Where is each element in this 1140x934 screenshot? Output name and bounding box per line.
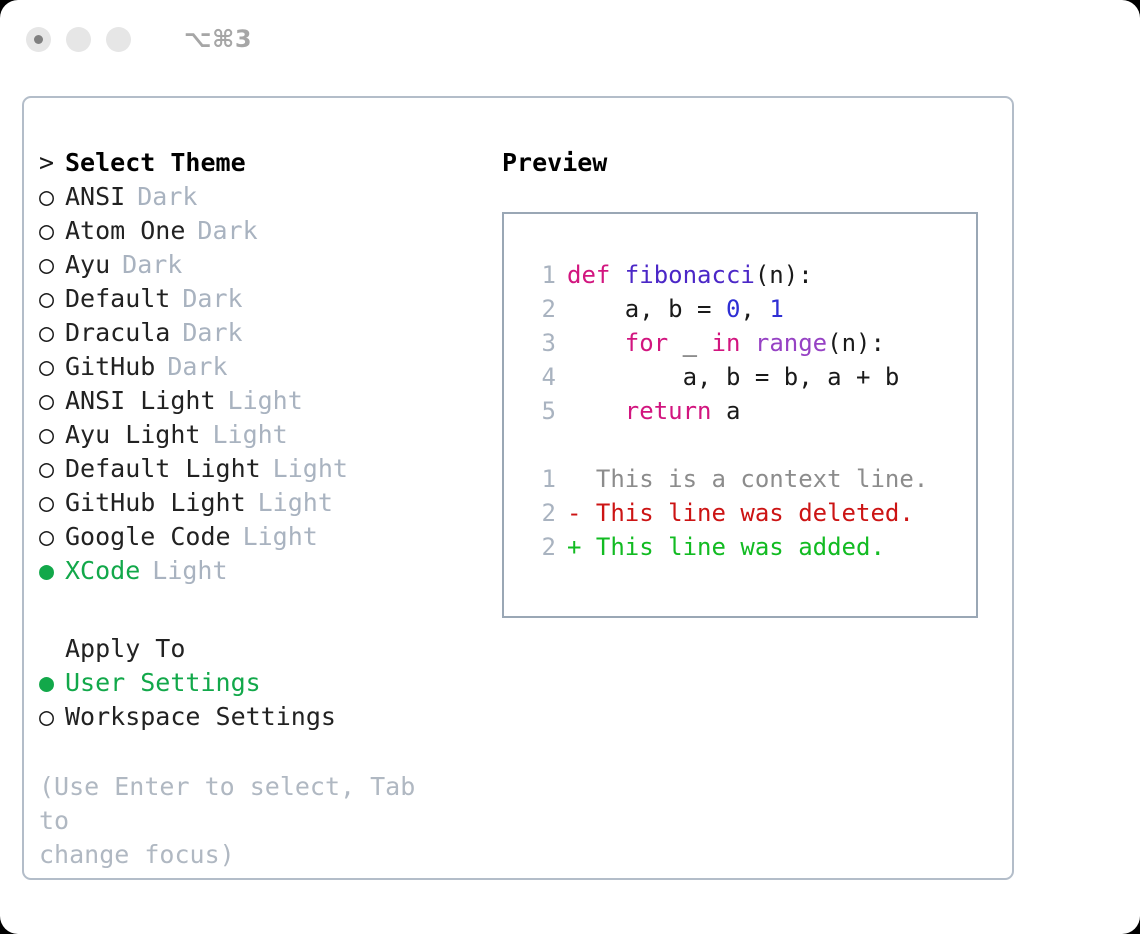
code-line-content: a, b = 0, 1 [567,292,784,326]
diff-line-number: 1 [522,462,556,496]
card-columns: > Select Theme ○ANSIDark○Atom OneDark○Ay… [24,98,1012,878]
radio-selected-icon: ● [39,554,65,588]
preview-title: Preview [502,146,1002,180]
theme-selector-panel: > Select Theme ○ANSIDark○Atom OneDark○Ay… [39,146,489,872]
theme-variant: Dark [197,214,257,248]
code-token-plain: (n): [827,329,885,357]
theme-name: Atom One [65,214,185,248]
theme-name: GitHub [65,350,155,384]
radio-unselected-icon: ○ [39,282,65,316]
preview-panel: Preview 1def fibonacci(n):2 a, b = 0, 13… [502,146,1002,618]
theme-list-item[interactable]: ○Google CodeLight [39,520,489,554]
apply-to-option-label: Workspace Settings [65,700,336,734]
keyboard-hint-line1: (Use Enter to select, Tab to [39,770,459,838]
apply-to-option-label: User Settings [65,666,261,700]
section-spacer [39,588,489,632]
diff-text: This line was added. [596,533,885,561]
code-line-number: 2 [522,292,556,326]
theme-variant: Light [228,384,303,418]
diff-sample: 1 This is a context line.2- This line wa… [522,462,976,564]
radio-unselected-icon: ○ [39,452,65,486]
diff-line: 1 This is a context line. [522,462,976,496]
radio-unselected-icon: ○ [39,214,65,248]
theme-name: XCode [65,554,140,588]
code-token-plain: _ [668,329,711,357]
code-line-number: 3 [522,326,556,360]
prompt-caret-icon: > [39,146,65,180]
theme-list-item[interactable]: ○GitHubDark [39,350,489,384]
main-card: > Select Theme ○ANSIDark○Atom OneDark○Ay… [22,96,1014,880]
radio-selected-icon: ● [39,666,65,700]
code-line-content: a, b = b, a + b [567,360,899,394]
code-line: 5 return a [522,394,976,428]
code-token-plain [567,329,625,357]
select-theme-header: > Select Theme [39,146,489,180]
code-line: 1def fibonacci(n): [522,258,976,292]
code-line-content: def fibonacci(n): [567,258,813,292]
radio-unselected-icon: ○ [39,520,65,554]
code-token-kw: for [625,329,668,357]
theme-name: ANSI Light [65,384,216,418]
code-token-fn: fibonacci [625,261,755,289]
code-token-kw: def [567,261,625,289]
diff-line-content: + This line was added. [567,530,885,564]
theme-list-item[interactable]: ○AyuDark [39,248,489,282]
code-token-kw: in [712,329,741,357]
theme-list-item[interactable]: ○ANSIDark [39,180,489,214]
theme-list-item[interactable]: ○DefaultDark [39,282,489,316]
code-token-bi: range [755,329,827,357]
theme-variant: Dark [167,350,227,384]
theme-variant: Dark [122,248,182,282]
code-line-content: return a [567,394,740,428]
code-token-plain: a, b = [567,295,726,323]
apply-to-options: ●User Settings○Workspace Settings [39,666,489,734]
code-token-plain [567,397,625,425]
diff-text: This line was deleted. [596,499,914,527]
theme-variant: Light [273,452,348,486]
theme-name: ANSI [65,180,125,214]
keyboard-shortcut-label: ⌥⌘3 [184,25,252,53]
code-line: 2 a, b = 0, 1 [522,292,976,326]
theme-variant: Dark [182,316,242,350]
code-line-content: for _ in range(n): [567,326,885,360]
diff-line-content: This is a context line. [567,462,928,496]
select-theme-title: Select Theme [65,146,246,180]
theme-name: Default Light [65,452,261,486]
code-line: 4 a, b = b, a + b [522,360,976,394]
keyboard-hint-line2: change focus) [39,838,459,872]
theme-list-item[interactable]: ○DraculaDark [39,316,489,350]
apply-to-option[interactable]: ●User Settings [39,666,489,700]
theme-name: Dracula [65,316,170,350]
diff-text: This is a context line. [596,465,928,493]
theme-name: Ayu [65,248,110,282]
theme-list-item[interactable]: ○Atom OneDark [39,214,489,248]
radio-unselected-icon: ○ [39,180,65,214]
apply-to-option[interactable]: ○Workspace Settings [39,700,489,734]
preview-code-box: 1def fibonacci(n):2 a, b = 0, 13 for _ i… [502,212,978,618]
diff-line-content: - This line was deleted. [567,496,914,530]
apply-to-marker-spacer: ○ [39,632,65,666]
code-token-num: 0 [726,295,740,323]
code-line-number: 1 [522,258,556,292]
theme-variant: Light [212,418,287,452]
theme-name: GitHub Light [65,486,246,520]
code-token-plain: (n): [755,261,813,289]
diff-line-number: 2 [522,530,556,564]
code-token-plain: , [740,295,769,323]
code-line: 3 for _ in range(n): [522,326,976,360]
diff-sign: + [567,533,596,561]
radio-unselected-icon: ○ [39,700,65,734]
theme-name: Ayu Light [65,418,200,452]
code-line-number: 5 [522,394,556,428]
window-dot-active[interactable] [26,27,51,52]
diff-line-number: 2 [522,496,556,530]
window-titlebar: ⌥⌘3 [0,0,1140,78]
code-token-plain: a, b = b, a + b [567,363,899,391]
window-dot-third[interactable] [106,27,131,52]
code-line-number: 4 [522,360,556,394]
theme-list-item[interactable]: ○GitHub LightLight [39,486,489,520]
code-token-plain [740,329,754,357]
code-token-plain: a [712,397,741,425]
theme-variant: Light [152,554,227,588]
theme-list-item[interactable]: ○ANSI LightLight [39,384,489,418]
code-token-kw: return [625,397,712,425]
radio-unselected-icon: ○ [39,486,65,520]
theme-name: Default [65,282,170,316]
theme-name: Google Code [65,520,231,554]
theme-list-item[interactable]: ○Ayu LightLight [39,418,489,452]
theme-list-item[interactable]: ○Default LightLight [39,452,489,486]
radio-unselected-icon: ○ [39,316,65,350]
theme-list: ○ANSIDark○Atom OneDark○AyuDark○DefaultDa… [39,180,489,588]
diff-line: 2- This line was deleted. [522,496,976,530]
theme-variant: Light [258,486,333,520]
diff-sign [567,465,596,493]
window-dot-active-inner [34,35,43,44]
radio-unselected-icon: ○ [39,350,65,384]
apply-to-header: ○ Apply To [39,632,489,666]
apply-to-title: Apply To [65,632,185,666]
code-sample: 1def fibonacci(n):2 a, b = 0, 13 for _ i… [522,258,976,428]
theme-variant: Light [243,520,318,554]
theme-list-item[interactable]: ●XCodeLight [39,554,489,588]
radio-unselected-icon: ○ [39,248,65,282]
code-diff-spacer [522,428,976,462]
theme-variant: Dark [182,282,242,316]
diff-sign: - [567,499,596,527]
code-token-num: 1 [769,295,783,323]
radio-unselected-icon: ○ [39,384,65,418]
window-dot-second[interactable] [66,27,91,52]
radio-unselected-icon: ○ [39,418,65,452]
app-window: ⌥⌘3 > Select Theme ○ANSIDark○Atom OneDar… [0,0,1140,934]
theme-variant: Dark [137,180,197,214]
diff-line: 2+ This line was added. [522,530,976,564]
keyboard-hint: (Use Enter to select, Tab to change focu… [39,770,459,872]
